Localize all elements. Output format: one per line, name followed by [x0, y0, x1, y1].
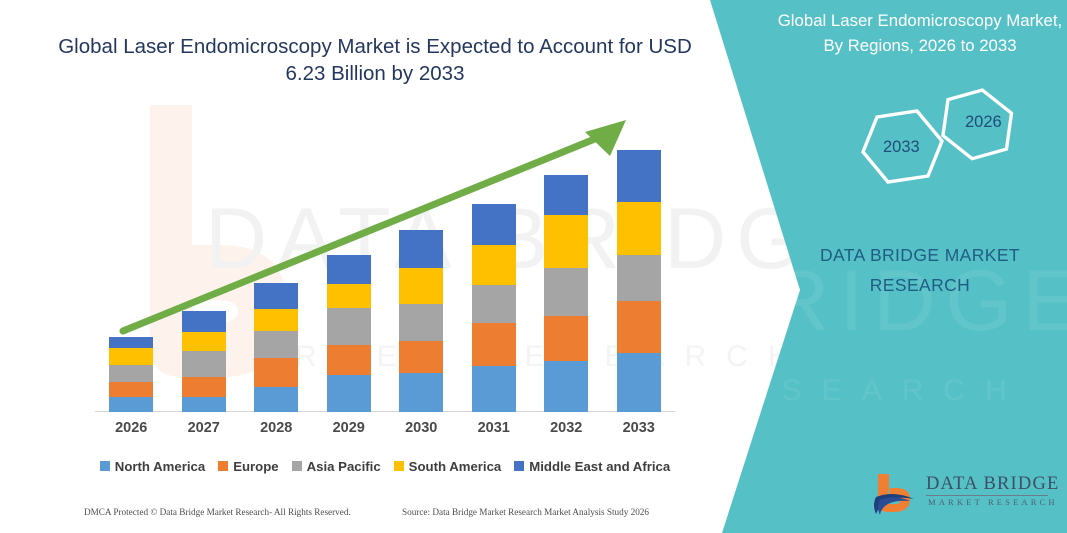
- hex-label-2033: 2033: [883, 138, 920, 157]
- bar-segment: [472, 366, 516, 412]
- bar-segment: [399, 373, 443, 412]
- bar-segment: [617, 301, 661, 353]
- legend-swatch-icon: [218, 461, 228, 471]
- legend-item-north-america[interactable]: North America: [100, 459, 205, 474]
- logo-title: DATA BRIDGE: [926, 474, 1060, 495]
- logo-subtitle: MARKET RESEARCH: [928, 497, 1058, 507]
- bar-segment: [617, 353, 661, 412]
- bar-segment: [109, 382, 153, 397]
- legend-item-south-america[interactable]: South America: [394, 459, 502, 474]
- legend-label: Asia Pacific: [307, 459, 381, 474]
- logo-mark-icon: [870, 470, 922, 520]
- bar-segment: [327, 308, 371, 345]
- bar-segment: [617, 202, 661, 255]
- bar-segment: [544, 361, 588, 412]
- x-axis-label-2032: 2032: [530, 420, 602, 436]
- x-axis-label-2028: 2028: [240, 420, 312, 436]
- x-axis-label-2026: 2026: [95, 420, 167, 436]
- bar-segment: [617, 150, 661, 202]
- x-axis-label-2031: 2031: [458, 420, 530, 436]
- x-axis-label-2033: 2033: [603, 420, 675, 436]
- chart-plot-area: [95, 120, 675, 412]
- bar-segment: [327, 284, 371, 308]
- bar-2030: [399, 230, 443, 412]
- bar-segment: [617, 255, 661, 300]
- bar-segment: [182, 397, 226, 412]
- chart-title: Global Laser Endomicroscopy Market is Ex…: [55, 33, 695, 87]
- chart-x-axis-labels: 20262027202820292030203120322033: [95, 420, 675, 444]
- chart-legend: North AmericaEuropeAsia PacificSouth Ame…: [95, 455, 675, 477]
- legend-swatch-icon: [292, 461, 302, 471]
- x-axis-label-2030: 2030: [385, 420, 457, 436]
- bar-segment: [472, 323, 516, 366]
- bar-2029: [327, 255, 371, 412]
- footer: DMCA Protected © Data Bridge Market Rese…: [0, 505, 720, 527]
- bar-segment: [472, 285, 516, 323]
- data-bridge-logo: DATA BRIDGE MARKET RESEARCH: [870, 470, 1055, 522]
- right-panel-title: Global Laser Endomicroscopy Market, By R…: [775, 8, 1065, 58]
- bar-2033: [617, 150, 661, 412]
- bar-segment: [109, 348, 153, 365]
- legend-item-europe[interactable]: Europe: [218, 459, 278, 474]
- bar-2028: [254, 283, 298, 412]
- hexagon-badges: 2026 2033: [825, 85, 1045, 205]
- bar-segment: [544, 268, 588, 315]
- logo-divider: [926, 495, 1048, 496]
- right-panel-content: Global Laser Endomicroscopy Market, By R…: [770, 0, 1067, 533]
- legend-label: Europe: [233, 459, 278, 474]
- hexagon-outline-icons: [825, 85, 1045, 205]
- bar-segment: [399, 304, 443, 341]
- bar-2032: [544, 175, 588, 412]
- bar-segment: [182, 351, 226, 377]
- legend-label: South America: [409, 459, 502, 474]
- legend-swatch-icon: [394, 461, 404, 471]
- bar-segment: [254, 387, 298, 412]
- bar-segment: [544, 215, 588, 268]
- chart-panel: Global Laser Endomicroscopy Market is Ex…: [0, 0, 760, 533]
- bar-segment: [254, 358, 298, 387]
- bar-segment: [254, 309, 298, 331]
- dmca-notice: DMCA Protected © Data Bridge Market Rese…: [84, 507, 351, 517]
- bar-segment: [109, 397, 153, 412]
- bar-segment: [399, 268, 443, 303]
- bar-segment: [327, 375, 371, 412]
- bar-segment: [327, 255, 371, 283]
- infographic-root: DATA BRIDGE MARKET RESEARCH BRIDGE RESEA…: [0, 0, 1067, 533]
- bar-segment: [254, 283, 298, 309]
- bar-segment: [399, 341, 443, 373]
- x-axis-label-2027: 2027: [168, 420, 240, 436]
- bar-segment: [182, 311, 226, 332]
- legend-label: Middle East and Africa: [529, 459, 670, 474]
- x-axis-label-2029: 2029: [313, 420, 385, 436]
- bar-segment: [544, 175, 588, 215]
- bar-2027: [182, 311, 226, 412]
- bar-segment: [472, 245, 516, 284]
- bar-2026: [109, 337, 153, 412]
- hex-label-2026: 2026: [965, 113, 1002, 132]
- bar-segment: [399, 230, 443, 268]
- legend-swatch-icon: [514, 461, 524, 471]
- bar-segment: [109, 365, 153, 382]
- bar-segment: [544, 316, 588, 361]
- legend-label: North America: [115, 459, 205, 474]
- legend-item-asia-pacific[interactable]: Asia Pacific: [292, 459, 381, 474]
- bar-segment: [254, 331, 298, 358]
- bar-segment: [327, 345, 371, 375]
- legend-swatch-icon: [100, 461, 110, 471]
- legend-item-middle-east-and-africa[interactable]: Middle East and Africa: [514, 459, 670, 474]
- source-note: Source: Data Bridge Market Research Mark…: [402, 507, 649, 517]
- brand-heading: DATA BRIDGE MARKET RESEARCH: [780, 240, 1060, 300]
- bar-segment: [182, 332, 226, 351]
- bar-segment: [472, 204, 516, 245]
- bar-segment: [109, 337, 153, 348]
- bar-2031: [472, 204, 516, 412]
- bar-segment: [182, 377, 226, 397]
